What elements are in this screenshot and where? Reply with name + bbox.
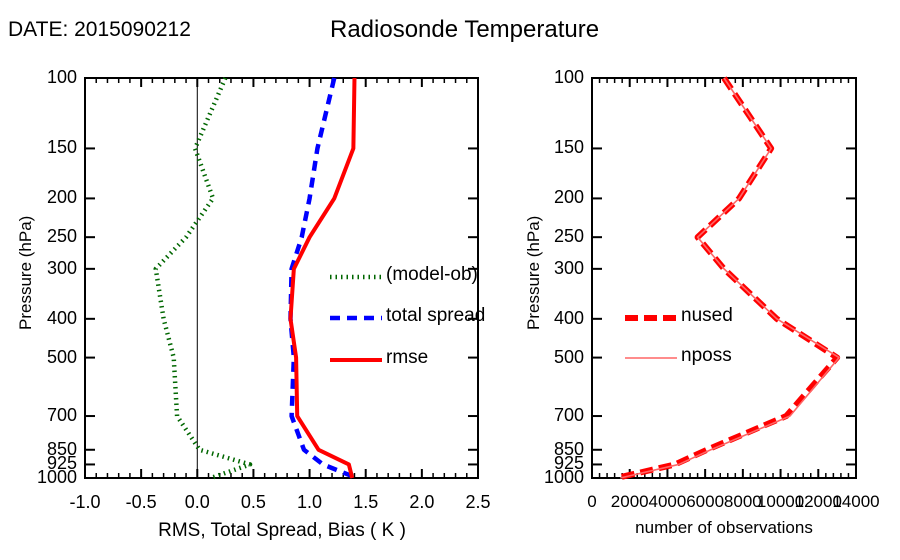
series-line-rmse xyxy=(290,78,354,478)
left-y-tick-label: 1000 xyxy=(19,467,77,488)
right-plot-frame xyxy=(592,78,856,478)
series-line--model-ob- xyxy=(156,78,250,478)
left-y-tick-label: 250 xyxy=(19,226,77,247)
left-y-tick-label: 150 xyxy=(19,137,77,158)
left-y-tick-label: 200 xyxy=(19,187,77,208)
legend-label-total-spread: total spread xyxy=(386,305,485,327)
legend-label-nused: nused xyxy=(681,305,733,327)
legend-label--model-ob-: (model-ob) xyxy=(386,264,478,286)
series-line-nused xyxy=(617,78,838,478)
legend-label-rmse: rmse xyxy=(386,347,428,369)
left-y-tick-label: 400 xyxy=(19,308,77,329)
right-y-tick-label: 150 xyxy=(526,137,584,158)
legend-label-nposs: nposs xyxy=(681,345,732,367)
left-y-tick-label: 300 xyxy=(19,258,77,279)
right-y-tick-label: 500 xyxy=(526,347,584,368)
left-y-tick-label: 500 xyxy=(19,347,77,368)
left-x-tick-label: 2.5 xyxy=(438,492,518,513)
right-y-tick-label: 250 xyxy=(526,226,584,247)
right-y-tick-label: 400 xyxy=(526,308,584,329)
chart-canvas: DATE: 2015090212 Radiosonde Temperature … xyxy=(0,0,900,560)
left-y-tick-label: 100 xyxy=(19,67,77,88)
right-y-tick-label: 700 xyxy=(526,405,584,426)
right-y-tick-label: 200 xyxy=(526,187,584,208)
right-y-tick-label: 300 xyxy=(526,258,584,279)
right-y-tick-label: 1000 xyxy=(526,467,584,488)
right-x-tick-label: 14000 xyxy=(816,492,896,512)
left-y-tick-label: 700 xyxy=(19,405,77,426)
right-y-tick-label: 100 xyxy=(526,67,584,88)
